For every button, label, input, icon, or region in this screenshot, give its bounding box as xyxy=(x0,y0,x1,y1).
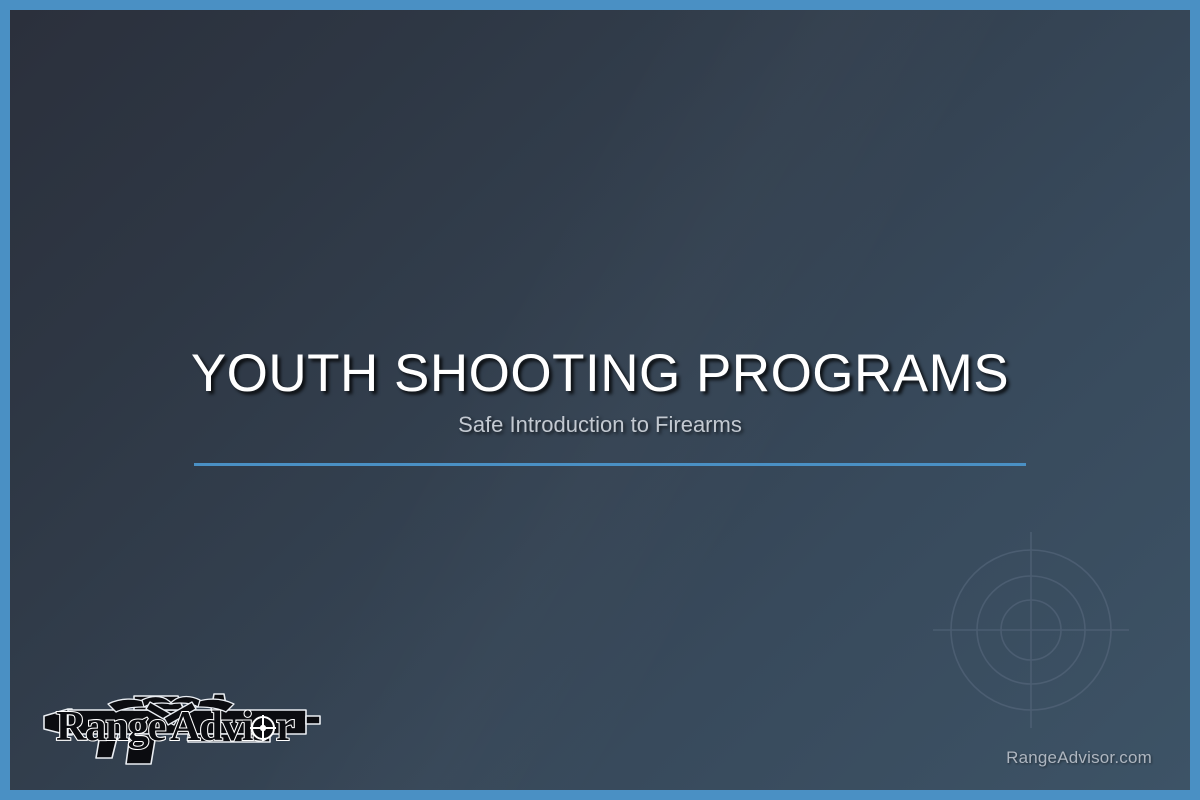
title-block: YOUTH SHOOTING PROGRAMS Safe Introductio… xyxy=(10,346,1190,439)
presentation-slide: YOUTH SHOOTING PROGRAMS Safe Introductio… xyxy=(0,0,1200,800)
rangeadvisor-logo[interactable]: Range Advis r xyxy=(38,678,323,770)
accent-divider xyxy=(194,463,1026,466)
footer-website-label: RangeAdvisor.com xyxy=(1006,748,1152,768)
svg-text:r: r xyxy=(276,704,294,750)
slide-subtitle: Safe Introduction to Firearms xyxy=(10,412,1190,438)
crosshair-target-watermark xyxy=(931,530,1131,730)
svg-text:Range: Range xyxy=(56,704,166,750)
slide-title: YOUTH SHOOTING PROGRAMS xyxy=(10,346,1190,402)
